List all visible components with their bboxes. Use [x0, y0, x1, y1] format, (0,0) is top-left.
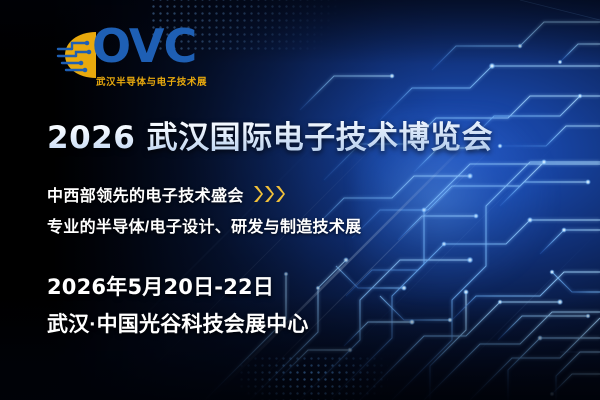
ovc-logo[interactable]: OVC 武汉半导体与电子技术展 [56, 27, 196, 95]
logo-wordmark: OVC [92, 23, 196, 69]
chevron-right-icon [275, 185, 285, 203]
logo-subtitle: 武汉半导体与电子技术展 [96, 74, 207, 88]
chevron-group [253, 185, 285, 203]
event-poster: OVC 武汉半导体与电子技术展 2026 武汉国际电子技术博览会 中西部领先的电… [0, 0, 600, 400]
event-venue: 武汉·中国光谷科技会展中心 [47, 308, 309, 338]
tagline-2-text: 专业的半导体/电子设计、研发与制造技术展 [47, 213, 361, 237]
event-date: 2026年5月20日-22日 [47, 271, 274, 301]
chevron-right-icon [264, 185, 274, 203]
page-title: 2026 武汉国际电子技术博览会 [47, 112, 493, 157]
tagline-1-text: 中西部领先的电子技术盛会 [47, 182, 244, 206]
tagline-row-1: 中西部领先的电子技术盛会 [47, 182, 285, 206]
chevron-right-icon [253, 185, 263, 203]
